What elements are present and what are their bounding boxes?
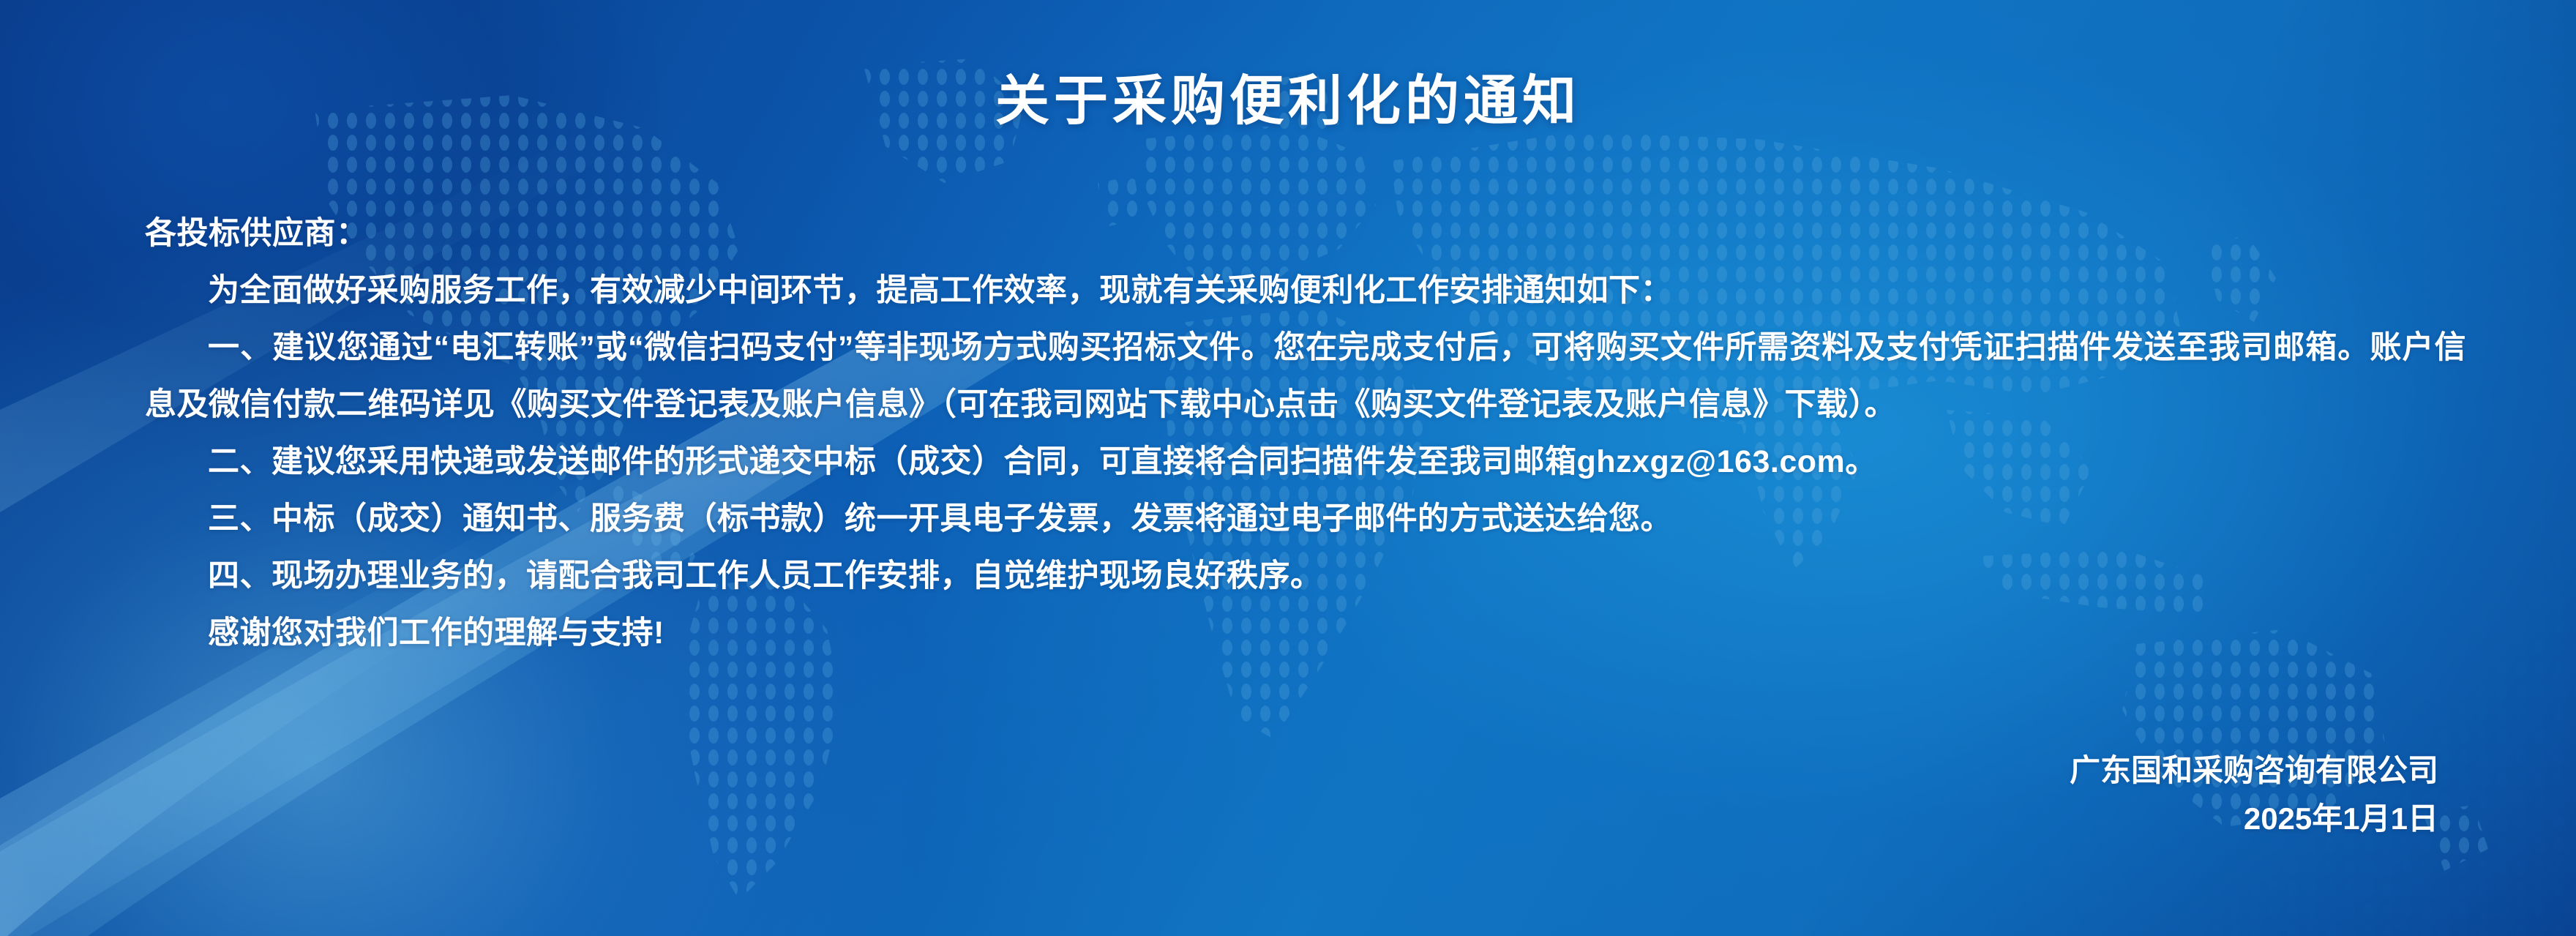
notice-banner: 关于采购便利化的通知 各投标供应商： 为全面做好采购服务工作，有效减少中间环节，… bbox=[0, 0, 2576, 936]
notice-content: 关于采购便利化的通知 各投标供应商： 为全面做好采购服务工作，有效减少中间环节，… bbox=[0, 0, 2576, 936]
paragraph-item-2: 二、建议您采用快递或发送邮件的形式递交中标（成交）合同，可直接将合同扫描件发至我… bbox=[145, 433, 2466, 490]
signature-block: 广东国和采购咨询有限公司 2025年1月1日 bbox=[2070, 746, 2438, 843]
paragraph-item-3: 三、中标（成交）通知书、服务费（标书款）统一开具电子发票，发票将通过电子邮件的方… bbox=[145, 490, 2466, 547]
notice-body: 各投标供应商： 为全面做好采购服务工作，有效减少中间环节，提高工作效率，现就有关… bbox=[145, 205, 2466, 662]
paragraph-item-1: 一、建议您通过“电汇转账”或“微信扫码支付”等非现场方式购买招标文件。您在完成支… bbox=[145, 319, 2466, 433]
signature-company: 广东国和采购咨询有限公司 bbox=[2070, 746, 2438, 795]
page-title: 关于采购便利化的通知 bbox=[0, 57, 2576, 135]
paragraph-item-4: 四、现场办理业务的，请配合我司工作人员工作安排，自觉维护现场良好秩序。 bbox=[145, 547, 2466, 604]
salutation: 各投标供应商： bbox=[145, 205, 2466, 262]
signature-date: 2025年1月1日 bbox=[2070, 795, 2438, 843]
paragraph-closing: 感谢您对我们工作的理解与支持! bbox=[145, 604, 2466, 662]
paragraph-intro: 为全面做好采购服务工作，有效减少中间环节，提高工作效率，现就有关采购便利化工作安… bbox=[145, 262, 2466, 319]
